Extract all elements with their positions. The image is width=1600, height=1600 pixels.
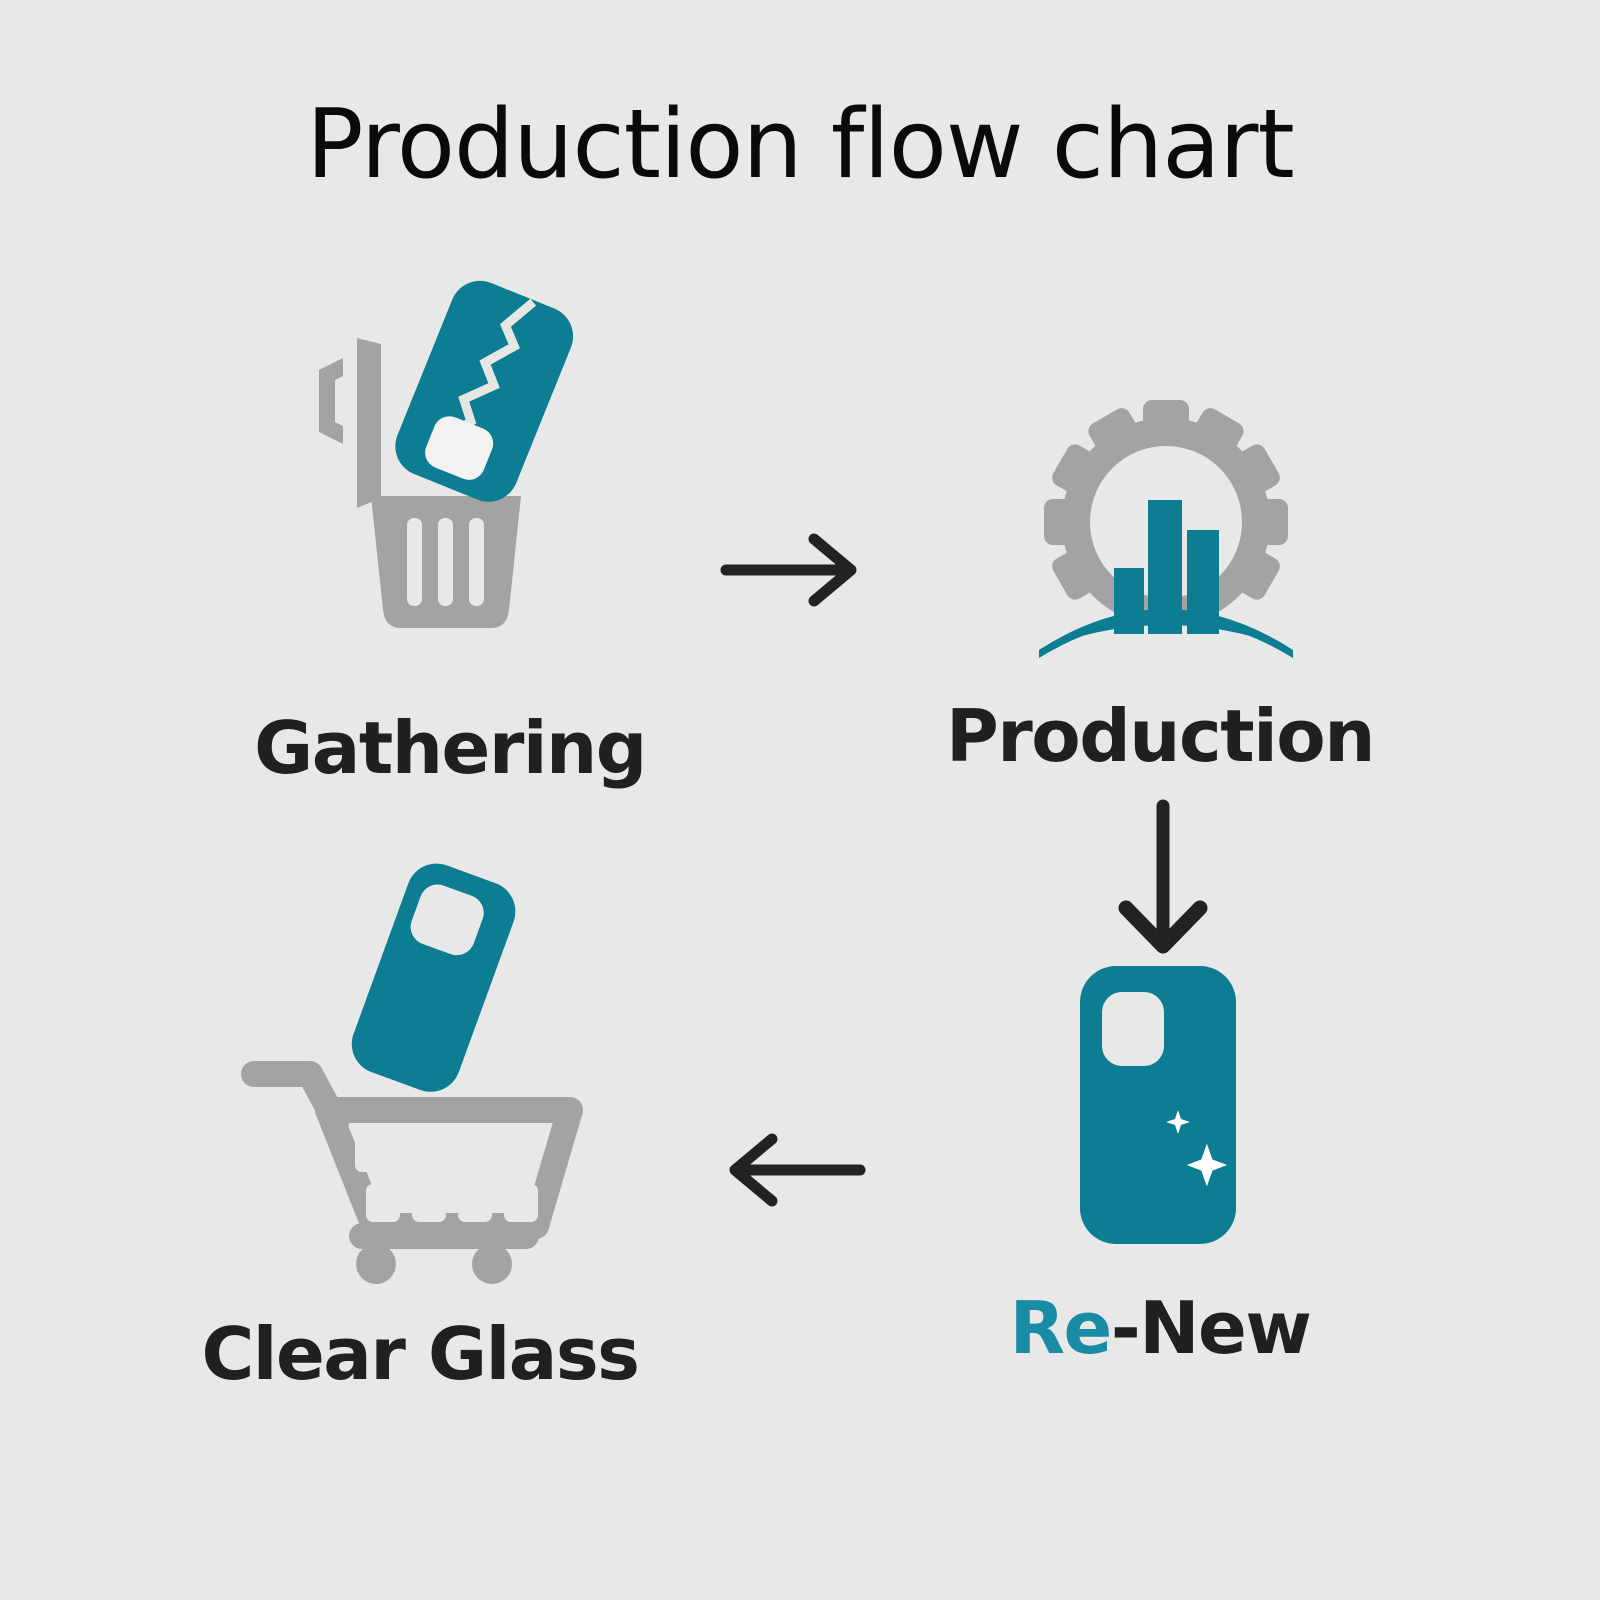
sparkling-phone-icon [1060,960,1260,1250]
trash-bin-broken-phone-icon [285,280,615,660]
flow-step-production[interactable]: Production [930,400,1390,772]
arrow-down-icon [1098,800,1228,955]
arrow-right-icon [718,525,868,615]
flow-step-renew[interactable]: Re-New [930,960,1390,1364]
arrow-left-icon [718,1125,868,1215]
page-title: Production flow chart [0,96,1600,196]
flow-step-label-renew-accent: Re [1010,1286,1111,1370]
flow-step-label-gathering: Gathering [254,712,646,784]
flow-step-label-clear-glass: Clear Glass [201,1318,638,1390]
shopping-cart-phone-icon [240,860,600,1280]
flow-step-label-renew-rest: -New [1111,1286,1311,1370]
gear-factory-icon [995,400,1325,670]
flow-step-label-production: Production [946,700,1374,772]
flow-chart-canvas: Production flow chart [0,0,1600,1600]
flow-step-gathering[interactable]: Gathering [220,280,680,784]
flow-step-label-renew: Re-New [1010,1292,1311,1364]
flow-step-clear-glass[interactable]: Clear Glass [190,860,650,1390]
